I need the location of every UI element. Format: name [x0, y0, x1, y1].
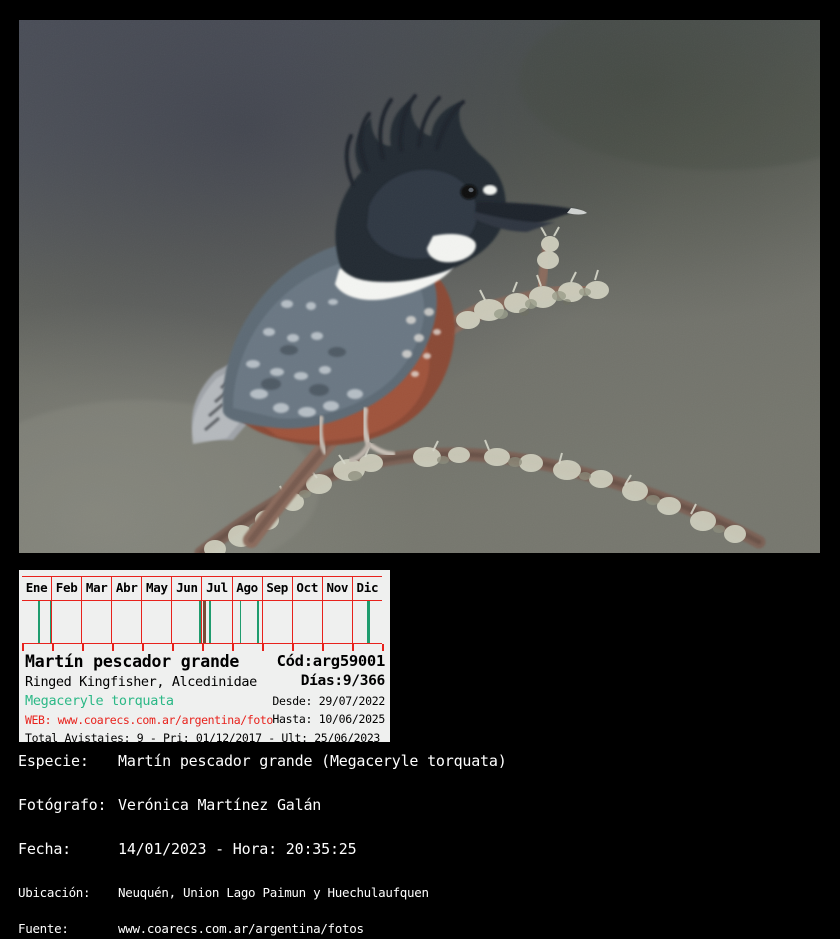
month-cell-dic: Dic [352, 577, 382, 600]
axis-tick [112, 644, 114, 651]
month-cell-feb: Feb [51, 577, 81, 600]
fotografo-value: Verónica Martínez Galán [118, 796, 321, 814]
axis-tick [322, 644, 324, 651]
month-label: Abr [116, 582, 138, 595]
photo-metadata-panel: Especie: Martín pescador grande (Megacer… [18, 752, 830, 854]
fecha-label: Fecha: [18, 840, 71, 858]
tick-cell-sep [262, 601, 292, 643]
axis-tick [382, 644, 384, 651]
tick-cell-jun [171, 601, 201, 643]
sighting-summary-card: Ene Feb Mar Abr May Jun Jul Ago Sep Oct … [19, 570, 390, 742]
axis-tick [262, 644, 264, 651]
sighting-tick [209, 601, 211, 643]
metadata-row-fotografo: Fotógrafo: Verónica Martínez Galán [18, 796, 830, 818]
fecha-value: 14/01/2023 - Hora: 20:35:25 [118, 840, 356, 858]
month-cell-may: May [141, 577, 171, 600]
metadata-row-ubicacion: Ubicación: Neuquén, Union Lago Paimun y … [18, 885, 830, 903]
tick-cell-ago [232, 601, 262, 643]
axis-tick [82, 644, 84, 651]
month-label: Dic [357, 582, 379, 595]
month-cell-nov: Nov [322, 577, 352, 600]
axis-tick [202, 644, 204, 651]
month-label: Sep [266, 582, 288, 595]
bird-photo-canvas [19, 20, 820, 553]
month-cell-jun: Jun [171, 577, 201, 600]
month-cell-ene: Ene [22, 577, 51, 600]
fuente-label: Fuente: [18, 921, 69, 936]
metadata-row-especie: Especie: Martín pescador grande (Megacer… [18, 752, 830, 774]
month-label: Oct [296, 582, 318, 595]
sighting-tick [257, 601, 259, 643]
tick-cell-nov [322, 601, 352, 643]
bird-photo [19, 20, 820, 553]
month-header-row: Ene Feb Mar Abr May Jun Jul Ago Sep Oct … [22, 577, 382, 601]
monthly-sightings-chart: Ene Feb Mar Abr May Jun Jul Ago Sep Oct … [22, 576, 382, 644]
metadata-row-fecha: Fecha: 14/01/2023 - Hora: 20:35:25 [18, 840, 830, 862]
axis-tick [232, 644, 234, 651]
month-tick-row [22, 601, 382, 643]
tick-cell-dic [352, 601, 382, 643]
month-cell-oct: Oct [292, 577, 322, 600]
date-to: Hasta: 10/06/2025 [272, 712, 385, 726]
tick-cell-jul [201, 601, 231, 643]
axis-tick [172, 644, 174, 651]
days-count: Días:9/366 [301, 673, 385, 689]
month-label: Ago [236, 582, 258, 595]
ubicacion-label: Ubicación: [18, 885, 90, 900]
especie-label: Especie: [18, 752, 89, 770]
month-label: Nov [326, 582, 348, 595]
month-cell-abr: Abr [111, 577, 141, 600]
sighting-tick [240, 601, 242, 643]
sighting-tick [203, 601, 206, 643]
month-label: May [146, 582, 168, 595]
fuente-value[interactable]: www.coarecs.com.ar/argentina/fotos [118, 921, 364, 936]
month-cell-ago: Ago [232, 577, 262, 600]
month-label: Jul [206, 582, 228, 595]
sighting-tick [367, 601, 370, 643]
date-from: Desde: 29/07/2022 [272, 694, 385, 708]
sighting-tick [38, 601, 40, 643]
species-english-name: Ringed Kingfisher, Alcedinidae [25, 674, 257, 690]
month-label: Ene [26, 582, 48, 595]
chart-axis-ticks [22, 644, 382, 651]
species-code: Cód:arg59001 [277, 652, 385, 670]
month-cell-jul: Jul [201, 577, 231, 600]
web-link[interactable]: WEB: www.coarecs.com.ar/argentina/foto [25, 713, 273, 727]
month-cell-sep: Sep [262, 577, 292, 600]
tick-cell-ene [22, 601, 51, 643]
tick-cell-mar [81, 601, 111, 643]
axis-tick [292, 644, 294, 651]
axis-tick [142, 644, 144, 651]
ubicacion-value: Neuquén, Union Lago Paimun y Huechulaufq… [118, 885, 429, 900]
especie-value: Martín pescador grande (Megaceryle torqu… [118, 752, 507, 770]
month-cell-mar: Mar [81, 577, 111, 600]
month-label: Mar [86, 582, 108, 595]
tick-cell-may [141, 601, 171, 643]
month-label: Feb [56, 582, 78, 595]
tick-cell-feb [51, 601, 81, 643]
tick-cell-abr [111, 601, 141, 643]
axis-tick [22, 644, 24, 651]
metadata-row-fuente: Fuente: www.coarecs.com.ar/argentina/fot… [18, 921, 830, 939]
total-sightings: Total Avistajes: 9 - Pri: 01/12/2017 - U… [25, 731, 380, 745]
tick-cell-oct [292, 601, 322, 643]
fotografo-label: Fotógrafo: [18, 796, 106, 814]
axis-tick [52, 644, 54, 651]
axis-tick [352, 644, 354, 651]
species-common-name: Martín pescador grande [25, 652, 239, 671]
species-scientific-name: Megaceryle torquata [25, 693, 174, 709]
month-label: Jun [176, 582, 198, 595]
